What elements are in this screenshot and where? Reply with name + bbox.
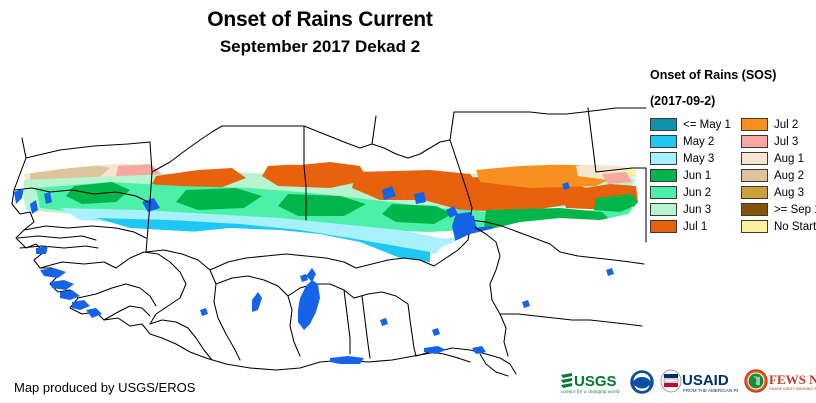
legend-swatch [741,186,768,199]
legend-label: >= Sep 1 [774,204,816,216]
legend-swatch [741,203,768,216]
map-legend: Onset of Rains (SOS) (2017-09-2) <= May … [650,68,816,234]
svg-text:USAID: USAID [682,372,729,389]
usgs-logo[interactable]: USGS science for a changing world [560,368,624,396]
legend-item[interactable]: Aug 2 [741,168,816,183]
legend-label: Jul 1 [683,221,707,233]
map-title-block: Onset of Rains Current September 2017 De… [0,0,640,57]
noaa-logo-mark [630,370,654,394]
legend-item[interactable]: Aug 1 [741,151,816,166]
west-africa-sos-map[interactable] [0,62,648,377]
usaid-logo[interactable]: USAID FROM THE AMERICAN PEOPLE [660,368,738,396]
legend-item[interactable]: >= Sep 1 [741,202,816,217]
map-credit: Map produced by USGS/EROS [14,380,195,395]
legend-item[interactable]: No Start [741,219,816,234]
legend-item[interactable]: May 2 [650,134,731,149]
legend-label: Aug 1 [774,153,804,165]
legend-label: Aug 2 [774,170,804,182]
legend-swatch [741,135,768,148]
page-title: Onset of Rains Current [0,8,640,32]
noaa-logo[interactable] [630,368,654,396]
legend-item[interactable]: Jul 1 [650,219,731,234]
sos-speck-niger-2 [414,192,426,204]
legend-date: (2017-09-2) [650,94,816,108]
legend-swatch [650,203,677,216]
legend-swatch [650,169,677,182]
legend-column-left: <= May 1 May 2 May 3 Jun 1 Jun 2 Jun 3 [650,117,731,234]
fews-net-logo-mark: FEWS NET FAMINE EARLY WARNING SYSTEMS NE… [744,369,816,395]
legend-item[interactable]: May 3 [650,151,731,166]
legend-item[interactable]: Jun 1 [650,168,731,183]
legend-swatch [650,220,677,233]
svg-text:USGS: USGS [574,373,617,390]
legend-label: Jun 1 [683,170,711,182]
legend-label: Aug 3 [774,187,804,199]
page-subtitle: September 2017 Dekad 2 [0,37,640,57]
usgs-logo-mark: USGS science for a changing world [560,369,624,395]
legend-swatch [741,169,768,182]
legend-item[interactable]: Jun 2 [650,185,731,200]
legend-item[interactable]: Jun 3 [650,202,731,217]
legend-label: <= May 1 [683,119,731,131]
legend-item[interactable]: <= May 1 [650,117,731,132]
legend-item[interactable]: Jul 3 [741,134,816,149]
legend-swatch [741,152,768,165]
fews-net-logo[interactable]: FEWS NET FAMINE EARLY WARNING SYSTEMS NE… [744,368,816,396]
legend-label: Jun 2 [683,187,711,199]
agency-logos: USGS science for a changing world USAID … [560,366,810,398]
svg-text:FEWS NET: FEWS NET [769,372,816,387]
legend-label: May 2 [683,136,714,148]
legend-swatch [741,220,768,233]
svg-text:FAMINE EARLY WARNING SYSTEMS N: FAMINE EARLY WARNING SYSTEMS NETWORK [769,387,816,391]
legend-item[interactable]: Aug 3 [741,185,816,200]
legend-swatch [650,186,677,199]
svg-text:science for a changing world: science for a changing world [561,390,620,395]
legend-label: Jul 2 [774,119,798,131]
legend-heading: Onset of Rains (SOS) [650,68,816,82]
legend-label: No Start [774,221,816,233]
svg-text:FROM THE AMERICAN PEOPLE: FROM THE AMERICAN PEOPLE [683,388,738,393]
legend-label: May 3 [683,153,714,165]
legend-column-right: Jul 2 Jul 3 Aug 1 Aug 2 Aug 3 >= Sep 1 [741,117,816,234]
legend-label: Jun 3 [683,204,711,216]
legend-item[interactable]: Jul 2 [741,117,816,132]
legend-label: Jul 3 [774,136,798,148]
map-canvas[interactable] [0,62,648,377]
legend-swatch [650,135,677,148]
legend-swatch [650,118,677,131]
legend-swatch [650,152,677,165]
usaid-logo-mark: USAID FROM THE AMERICAN PEOPLE [660,369,738,395]
legend-swatch [741,118,768,131]
